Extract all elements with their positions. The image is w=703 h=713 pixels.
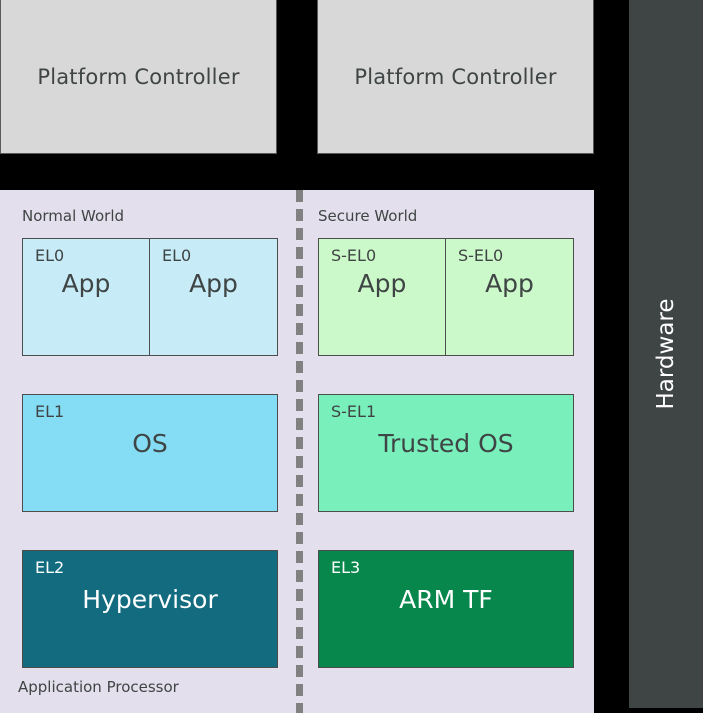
app-box-normal-1: EL0 App (22, 238, 150, 356)
os-box-normal: EL1 OS (22, 394, 278, 512)
box-title: Trusted OS (319, 429, 573, 458)
box-title: App (23, 269, 149, 298)
app-box-normal-2: EL0 App (149, 238, 278, 356)
box-title: App (150, 269, 277, 298)
exception-level-tag: EL0 (162, 246, 191, 265)
arm-trusted-firmware-box: EL3 ARM TF (318, 550, 574, 668)
box-title: OS (23, 429, 277, 458)
box-title: ARM TF (319, 585, 573, 614)
hardware-label: Hardware (653, 298, 679, 409)
trusted-os-box-secure: S-EL1 Trusted OS (318, 394, 574, 512)
exception-level-tag: S-EL0 (331, 246, 376, 265)
box-title: App (446, 269, 573, 298)
exception-level-tag: EL3 (331, 558, 360, 577)
application-processor-panel: Normal World Secure World EL0 App EL0 Ap… (0, 190, 594, 713)
world-separator-dashed-line (296, 190, 303, 713)
app-box-secure-1: S-EL0 App (318, 238, 446, 356)
exception-level-tag: EL0 (35, 246, 64, 265)
application-processor-label: Application Processor (18, 678, 179, 696)
app-box-secure-2: S-EL0 App (445, 238, 574, 356)
hypervisor-box: EL2 Hypervisor (22, 550, 278, 668)
platform-controller-box-1: Platform Controller (0, 0, 277, 154)
secure-world-label: Secure World (318, 207, 417, 225)
exception-level-tag: EL2 (35, 558, 64, 577)
platform-controller-label-1: Platform Controller (37, 65, 239, 89)
hardware-bar: Hardware (629, 0, 703, 708)
platform-controller-box-2: Platform Controller (317, 0, 594, 154)
box-title: App (319, 269, 445, 298)
architecture-diagram: Platform Controller Platform Controller … (0, 0, 703, 713)
exception-level-tag: S-EL1 (331, 402, 376, 421)
box-title: Hypervisor (23, 585, 277, 614)
normal-world-label: Normal World (22, 207, 124, 225)
exception-level-tag: EL1 (35, 402, 64, 421)
platform-controller-label-2: Platform Controller (354, 65, 556, 89)
exception-level-tag: S-EL0 (458, 246, 503, 265)
